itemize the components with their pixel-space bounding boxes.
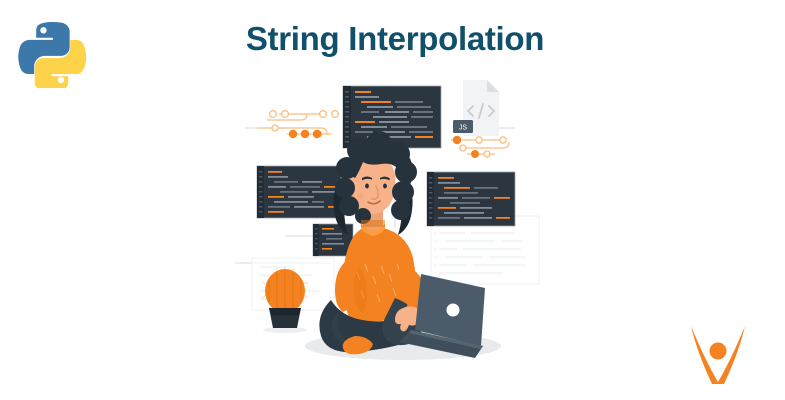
code-window-small [313, 224, 353, 256]
git-graph-right [451, 136, 509, 158]
brand-logo-head [710, 343, 727, 360]
developer-illustration: JS [235, 68, 555, 368]
code-window-right [427, 172, 515, 226]
brand-logo [685, 322, 763, 384]
python-logo [18, 16, 88, 88]
cheek [357, 193, 364, 200]
page-title: String Interpolation [150, 18, 640, 60]
file-badge-label: JS [459, 125, 468, 132]
git-graph-left [257, 111, 338, 139]
file-document: JS [453, 80, 499, 136]
code-window-left [257, 166, 341, 218]
laptop-logo [447, 304, 460, 317]
banner-root: String Interpolation [0, 0, 785, 400]
